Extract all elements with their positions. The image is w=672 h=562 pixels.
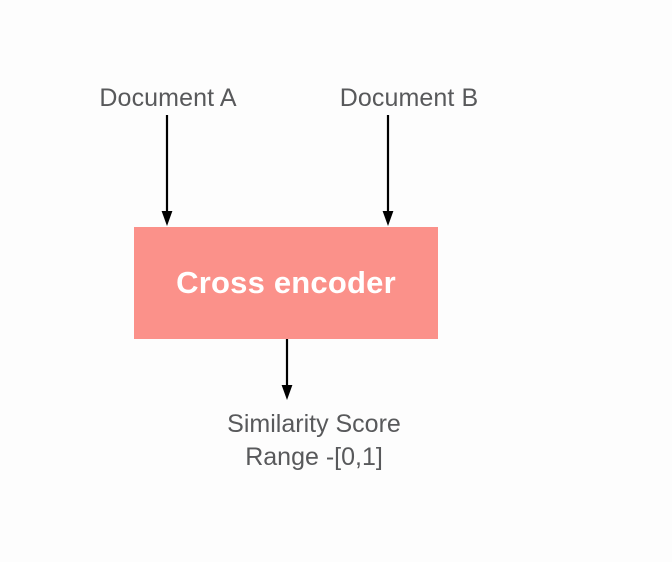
arrow-down-icon xyxy=(282,385,293,400)
arrow-down-icon xyxy=(383,211,394,226)
process-node-label: Cross encoder xyxy=(176,265,396,301)
arrow-down-icon xyxy=(162,211,173,226)
output-node-similarity-score: Similarity Score Range -[0,1] xyxy=(227,408,401,474)
process-node-cross-encoder: Cross encoder xyxy=(134,227,438,339)
output-label-line-1: Similarity Score xyxy=(227,408,401,441)
diagram-canvas: Document A Document B Cross encoder Simi… xyxy=(0,0,672,562)
arrow-document-b-to-encoder xyxy=(383,115,394,226)
output-label-line-2: Range -[0,1] xyxy=(227,441,401,474)
arrow-document-a-to-encoder xyxy=(162,115,173,226)
input-node-document-a: Document A xyxy=(99,82,236,114)
input-node-document-b: Document B xyxy=(340,82,479,114)
